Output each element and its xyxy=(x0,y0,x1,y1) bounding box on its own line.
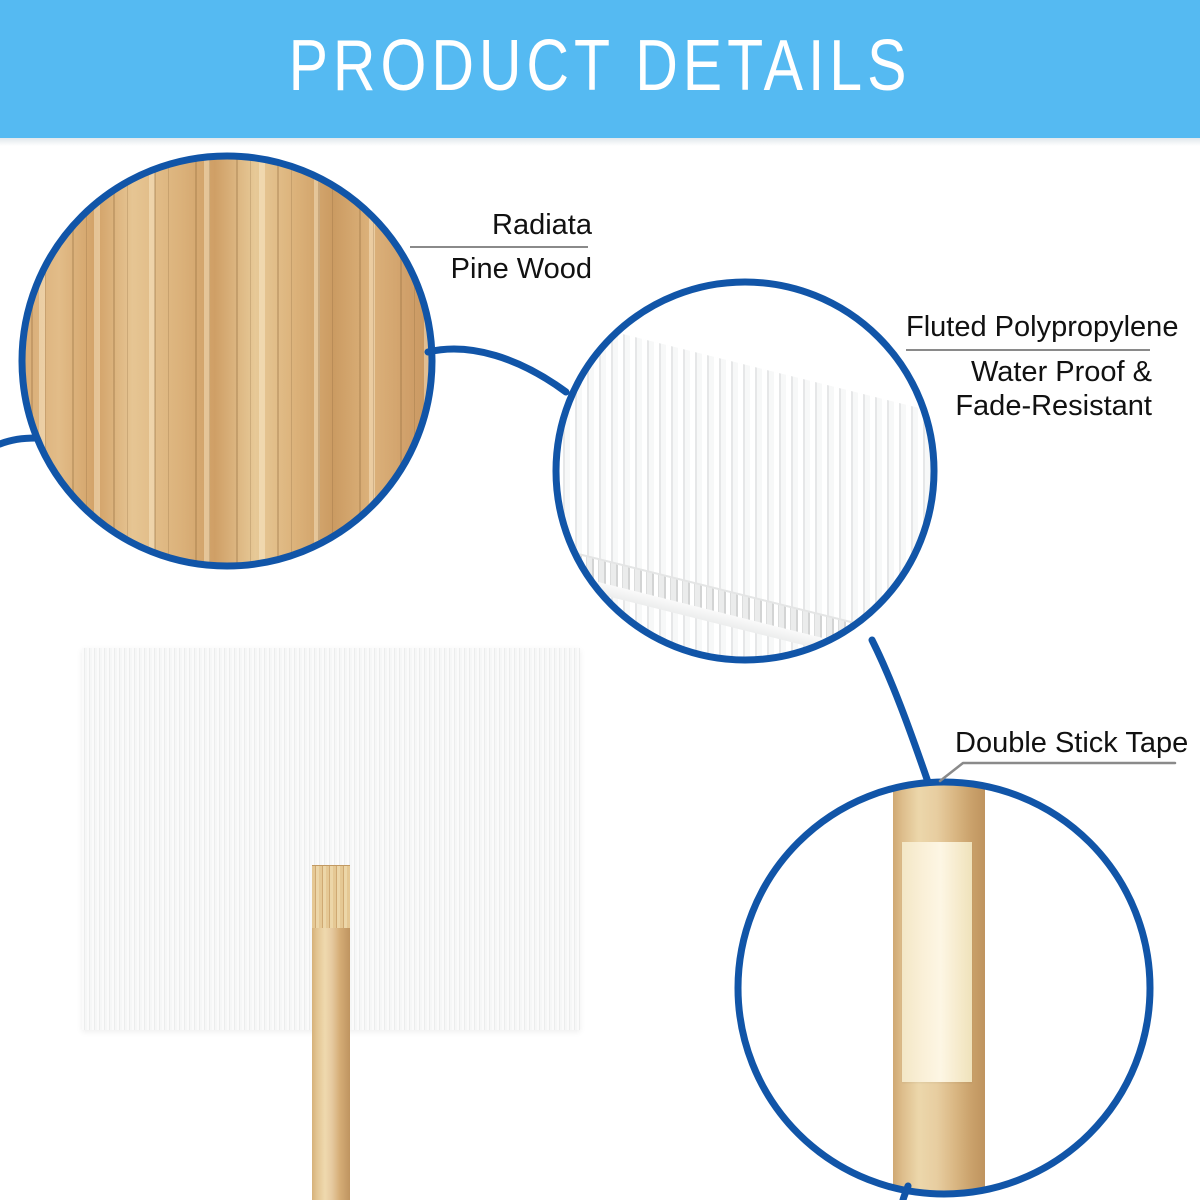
callout-wood: Radiata Pine Wood xyxy=(410,208,592,286)
tape-leader-line xyxy=(940,763,1175,781)
connector-wood-to-edge xyxy=(0,438,36,444)
callout-wood-rule xyxy=(410,246,588,248)
callout-tape-title: Double Stick Tape xyxy=(955,726,1173,760)
polypropylene-sheet-image xyxy=(556,282,934,660)
callout-polypropylene-subtitle-line-1: Water Proof & xyxy=(906,355,1152,389)
callout-polypropylene-title: Fluted Polypropylene xyxy=(906,310,1152,344)
callout-wood-subtitle: Pine Wood xyxy=(410,252,592,286)
callout-polypropylene: Fluted Polypropylene Water Proof & Fade-… xyxy=(906,310,1152,424)
page-title: PRODUCT DETAILS xyxy=(108,0,1092,138)
header-banner: PRODUCT DETAILS xyxy=(0,0,1200,138)
product-photo xyxy=(82,648,580,1030)
connector-wood-to-plastic xyxy=(428,349,566,392)
banner-shadow xyxy=(0,138,1200,146)
callout-tape: Double Stick Tape xyxy=(955,726,1173,760)
wood-swatch-image xyxy=(22,156,432,566)
wooden-stake-top-grain xyxy=(312,865,350,928)
callout-wood-title: Radiata xyxy=(410,208,592,242)
double-stick-tape-image xyxy=(738,782,1150,1194)
callout-polypropylene-subtitle-line-2: Fade-Resistant xyxy=(906,389,1152,423)
callout-polypropylene-rule xyxy=(906,349,1150,351)
tape-strip xyxy=(902,842,972,1082)
connector-plastic-to-tape xyxy=(872,640,928,782)
product-details-infographic: PRODUCT DETAILS Radiata xyxy=(0,0,1200,1200)
